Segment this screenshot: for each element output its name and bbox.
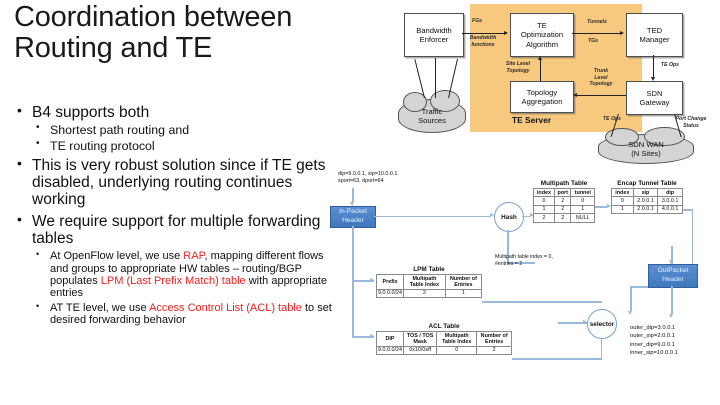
node-bandwidth-enforcer: Bandwidth Enforcer bbox=[404, 13, 464, 57]
encap-tunnel-table-caption: Encap Tunnel Table bbox=[611, 180, 683, 187]
acl-table: ACL Table DIP TOS / TOS Mask Multipath T… bbox=[376, 323, 512, 355]
cloud-sdn-wan: SDN WAN (N Sites) bbox=[598, 134, 694, 164]
table-row: 0 2.0.0.1 3.0.0.1 bbox=[612, 197, 683, 205]
table-header-row: DIP TOS / TOS Mask Multipath Table Index… bbox=[377, 332, 512, 347]
column-header: dip bbox=[658, 189, 683, 197]
cell: 0 bbox=[437, 346, 477, 354]
cell: 1 bbox=[571, 205, 595, 213]
bullet-list: B4 supports both Shortest path routing a… bbox=[10, 104, 340, 327]
lpm-table: LPM Table Prefix Multipath Table Index N… bbox=[376, 266, 482, 298]
text-segment: At OpenFlow level, we use bbox=[50, 250, 183, 262]
in-packet-header-note: dip=9.0.0.1, sip=10.0.0.1 sport=63, dpor… bbox=[338, 171, 458, 186]
table-row: 0 2 0 bbox=[534, 197, 595, 205]
edge-label-site-level-topology: Site Level Topology bbox=[497, 61, 539, 74]
table-row: 9.0.0.0/24 0x10/0xff 0 2 bbox=[377, 346, 512, 354]
result-line: outer_dip=3.0.0.1 bbox=[630, 324, 720, 332]
table-row: 2 2 NULL bbox=[534, 214, 595, 222]
column-header: tunnel bbox=[571, 189, 595, 197]
cell: 2 bbox=[554, 197, 571, 205]
edge-label-bandwidth-functions: Bandwidth functions bbox=[462, 35, 504, 48]
result-line: inner_sip=10.0.0.1 bbox=[630, 349, 720, 357]
cell: 9.0.0.0/24 bbox=[377, 346, 404, 354]
cell: 2 bbox=[477, 346, 512, 354]
table-header-row: index port tunnel bbox=[534, 189, 595, 197]
cell: 1 bbox=[445, 289, 481, 297]
table-row: 1 2 1 bbox=[534, 205, 595, 213]
text-segment-lpm: LPM (Last Prefix Match) table bbox=[101, 275, 246, 287]
out-packet-header-box: OutPacket Header bbox=[648, 264, 698, 288]
out-packet-label-line2: Header bbox=[662, 276, 684, 285]
multipath-table: Multipath Table index port tunnel 0 2 0 … bbox=[533, 180, 595, 223]
node-te-optimization-algorithm: TE Optimization Algorithm bbox=[510, 13, 574, 57]
table-header-row: Prefix Multipath Table Index Number of E… bbox=[377, 275, 482, 290]
edge-label-te-ops-1: TE Ops bbox=[655, 62, 685, 69]
bullet-openflow-rap: At OpenFlow level, we use RAP, mapping d… bbox=[10, 250, 340, 298]
table-row: 9.0.0.0/24 2 1 bbox=[377, 289, 482, 297]
acl-table-caption: ACL Table bbox=[376, 323, 512, 330]
in-packet-note-line1: dip=9.0.0.1, sip=10.0.0.1 bbox=[338, 171, 458, 178]
cell: 2 bbox=[403, 289, 445, 297]
page-title: Coordination between Routing and TE bbox=[14, 2, 344, 63]
bullet-multiple-forwarding-tables: We require support for multiple forwardi… bbox=[10, 213, 340, 248]
lpm-table-caption: LPM Table bbox=[376, 266, 482, 273]
cell: 0 bbox=[571, 197, 595, 205]
selector-label: selector bbox=[590, 321, 615, 328]
edge-label-fgs: FGs bbox=[466, 18, 488, 25]
slide-canvas: Coordination between Routing and TE B4 s… bbox=[0, 0, 720, 405]
edge-label-te-ops-2: TE Ops bbox=[598, 116, 626, 123]
node-label: TED Manager bbox=[640, 26, 670, 44]
column-header: Multipath Table Index bbox=[437, 332, 477, 347]
cell: 2 bbox=[554, 205, 571, 213]
cell: 1 bbox=[534, 205, 555, 213]
cloud-label: Traffic Sources bbox=[418, 107, 446, 125]
cell: 2.0.0.1 bbox=[633, 197, 658, 205]
in-packet-label-line2: Header bbox=[342, 217, 364, 226]
te-server-architecture-diagram: TE Server Bandwidth Enforcer TE Optimiza… bbox=[362, 2, 718, 166]
column-header: Multipath Table Index bbox=[403, 275, 445, 290]
selector-node: selector bbox=[587, 309, 617, 339]
result-line: inner_dip=9.0.0.1 bbox=[630, 341, 720, 349]
out-packet-label-line1: OutPacket bbox=[658, 267, 689, 276]
column-header: Number of Entries bbox=[445, 275, 481, 290]
te-server-region-label: TE Server bbox=[512, 115, 551, 125]
cloud-traffic-sources: Traffic Sources bbox=[398, 99, 466, 133]
in-packet-note-line2: sport=63, dport=64 bbox=[338, 178, 458, 185]
forwarding-pipeline-diagram: dip=9.0.0.1, sip=10.0.0.1 sport=63, dpor… bbox=[330, 166, 720, 405]
out-packet-result-list: outer_dip=3.0.0.1 outer_sip=2.0.0.1 inne… bbox=[630, 324, 720, 358]
column-header: index bbox=[612, 189, 634, 197]
text-segment: AT TE level, we use bbox=[50, 302, 149, 314]
result-line: outer_sip=2.0.0.1 bbox=[630, 332, 720, 340]
cell: 3.0.0.1 bbox=[658, 197, 683, 205]
column-header: port bbox=[554, 189, 571, 197]
bullet-b4-supports-both: B4 supports both bbox=[10, 104, 340, 121]
in-packet-header-box: In-Packet Header bbox=[330, 206, 376, 228]
bullet-te-routing-protocol: TE routing protocol bbox=[10, 139, 340, 153]
node-ted-manager: TED Manager bbox=[626, 13, 683, 57]
in-packet-label-line1: In-Packet bbox=[339, 208, 367, 217]
encap-tunnel-table: Encap Tunnel Table index sip dip 0 2.0.0… bbox=[611, 180, 683, 214]
edge-label-tgs: TGs bbox=[580, 38, 606, 45]
table-header-row: index sip dip bbox=[612, 189, 683, 197]
cloud-label: SDN WAN (N Sites) bbox=[628, 140, 664, 158]
hash-node: Hash bbox=[494, 202, 524, 232]
hash-label: Hash bbox=[501, 214, 517, 221]
node-sdn-gateway: SDN Gateway bbox=[626, 81, 683, 115]
annotation-line2: #entries = 2 bbox=[495, 261, 571, 268]
cell: 1 bbox=[612, 205, 634, 213]
cell: 9.0.0.0/24 bbox=[377, 289, 404, 297]
cell: 4.0.0.1 bbox=[658, 205, 683, 213]
cell: 0 bbox=[612, 197, 634, 205]
column-header: TOS / TOS Mask bbox=[403, 332, 436, 347]
node-label: SDN Gateway bbox=[640, 89, 670, 107]
text-segment-rap: RAP bbox=[183, 250, 204, 262]
column-header: sip bbox=[633, 189, 658, 197]
node-label: Topology Aggregation bbox=[522, 88, 563, 106]
table-row: 1 2.0.0.1 4.0.0.1 bbox=[612, 205, 683, 213]
cell: 2 bbox=[554, 214, 571, 222]
cell: NULL bbox=[571, 214, 595, 222]
bullet-te-acl: AT TE level, we use Access Control List … bbox=[10, 302, 340, 326]
column-header: Prefix bbox=[377, 275, 404, 290]
node-topology-aggregation: Topology Aggregation bbox=[510, 81, 574, 113]
annotation-line1: Multipath table index = 0, bbox=[495, 254, 571, 261]
column-header: index bbox=[534, 189, 555, 197]
cell: 2.0.0.1 bbox=[633, 205, 658, 213]
cell: 2 bbox=[534, 214, 555, 222]
bullet-robust-solution: This is very robust solution since if TE… bbox=[10, 157, 340, 209]
text-segment-acl: Access Control List (ACL) table bbox=[149, 302, 302, 314]
column-header: Number of Entries bbox=[477, 332, 512, 347]
node-label: TE Optimization Algorithm bbox=[521, 21, 563, 48]
edge-label-trunk-level-topology: Trunk Level Topology bbox=[584, 68, 618, 88]
multipath-table-caption: Multipath Table bbox=[533, 180, 595, 187]
cell: 0 bbox=[534, 197, 555, 205]
multipath-index-annotation: Multipath table index = 0, #entries = 2 bbox=[495, 254, 571, 268]
bullet-shortest-path-routing: Shortest path routing and bbox=[10, 123, 340, 137]
cell: 0x10/0xff bbox=[403, 346, 436, 354]
edge-label-port-change-status: Port Change Status bbox=[668, 116, 714, 129]
node-label: Bandwidth Enforcer bbox=[416, 26, 451, 44]
edge-label-tunnels: Tunnels bbox=[578, 19, 616, 26]
column-header: DIP bbox=[377, 332, 404, 347]
